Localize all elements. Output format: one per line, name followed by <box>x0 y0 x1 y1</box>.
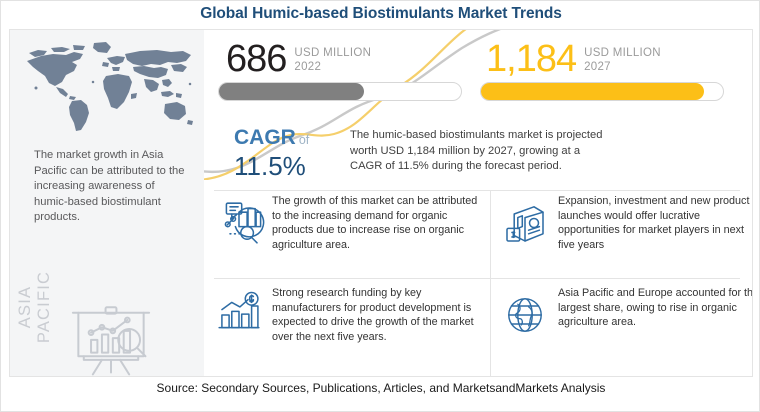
chart-analysis-icon <box>65 300 157 376</box>
stat-unit-2022: USD MILLION 2022 <box>294 40 371 74</box>
divider-horizontal-top <box>214 190 740 191</box>
stat-value-2022: 686 <box>226 40 286 78</box>
stat-year-2022: 2022 <box>294 60 371 74</box>
stat-unit-label-2022: USD MILLION <box>294 47 371 59</box>
stat-year-2027: 2027 <box>584 60 661 74</box>
divider-vertical <box>490 190 491 376</box>
percent-chart-search-icon <box>212 196 266 250</box>
stat-unit-label-2027: USD MILLION <box>584 47 661 59</box>
page-title: Global Humic-based Biostimulants Market … <box>1 5 760 23</box>
main-panel: 686 USD MILLION 2022 1,184 USD MILLION 2… <box>204 30 752 376</box>
cagr-block: CAGRof 11.5% <box>234 126 354 180</box>
bar-chart-dollar-icon <box>212 288 266 342</box>
bullet-text-growth-drivers: The growth of this market can be attribu… <box>272 194 480 252</box>
cagr-value: 11.5% <box>234 152 354 180</box>
source-footer: Source: Secondary Sources, Publications,… <box>1 381 760 395</box>
cagr-of-label: of <box>299 133 309 147</box>
sidebar-description: The market growth in Asia Pacific can be… <box>34 148 186 226</box>
content-frame: The market growth in Asia Pacific can be… <box>9 29 753 377</box>
stat-2022: 686 USD MILLION 2022 <box>226 40 371 78</box>
bullet-text-research-funding: Strong research funding by key manufactu… <box>272 286 480 344</box>
divider-horizontal-bottom <box>214 278 740 279</box>
bullet-item-growth-drivers: The growth of this market can be attribu… <box>212 194 480 252</box>
globe-icon <box>498 288 552 342</box>
bullet-item-regional-share: Asia Pacific and Europe accounted for th… <box>498 286 752 342</box>
progress-bar-fill-2022 <box>219 83 364 100</box>
sidebar-asia-pacific: The market growth in Asia Pacific can be… <box>10 30 204 376</box>
bullet-item-opportunities: Expansion, investment and new product la… <box>498 194 752 252</box>
cagr-description: The humic-based biostimulants market is … <box>350 128 608 175</box>
cagr-label-row: CAGRof <box>234 126 354 152</box>
cagr-label: CAGR <box>234 126 296 149</box>
money-banknotes-icon <box>498 196 552 250</box>
stat-value-2027: 1,184 <box>486 40 576 78</box>
bullet-text-opportunities: Expansion, investment and new product la… <box>558 194 752 252</box>
bullet-item-research-funding: Strong research funding by key manufactu… <box>212 286 480 344</box>
bullet-text-regional-share: Asia Pacific and Europe accounted for th… <box>558 286 752 330</box>
stat-2027: 1,184 USD MILLION 2027 <box>486 40 661 78</box>
progress-bar-fill-2027 <box>481 83 704 100</box>
infographic-page: Global Humic-based Biostimulants Market … <box>0 0 760 412</box>
progress-bar-2022 <box>218 82 462 101</box>
region-label: ASIA PACIFIC <box>16 249 54 365</box>
progress-bar-2027 <box>480 82 724 101</box>
stat-unit-2027: USD MILLION 2027 <box>584 40 661 74</box>
world-map-icon <box>18 32 198 136</box>
